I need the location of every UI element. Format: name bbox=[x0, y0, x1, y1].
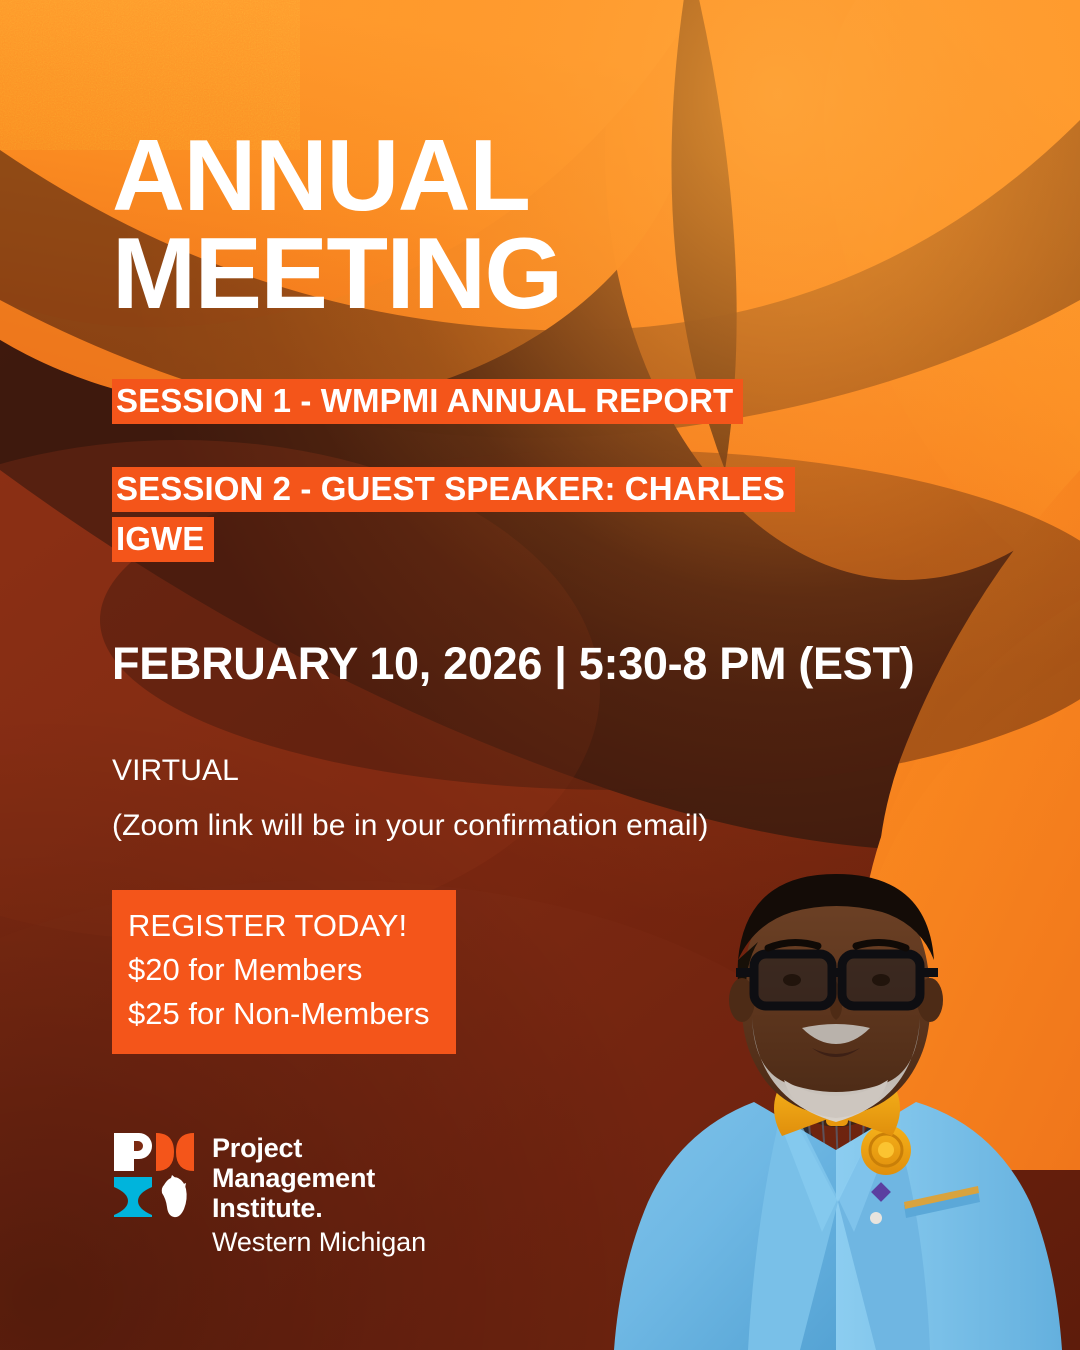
session-2: SESSION 2 - GUEST SPEAKER: CHARLES IGWE bbox=[112, 464, 872, 564]
registration-box[interactable]: REGISTER TODAY! $20 for Members $25 for … bbox=[112, 890, 456, 1054]
pmi-logo-text: Project Management Institute. Western Mi… bbox=[212, 1131, 426, 1258]
nonmember-price: $25 for Non-Members bbox=[128, 992, 430, 1036]
session-1: SESSION 1 - WMPMI ANNUAL REPORT bbox=[112, 376, 743, 426]
title-line-1: ANNUAL bbox=[112, 128, 832, 226]
logo-org-line-1: Project bbox=[212, 1133, 426, 1163]
register-heading: REGISTER TODAY! bbox=[128, 904, 430, 948]
venue-note: (Zoom link will be in your confirmation … bbox=[112, 809, 1080, 842]
session-list: SESSION 1 - WMPMI ANNUAL REPORT SESSION … bbox=[112, 376, 1080, 564]
venue-block: VIRTUAL (Zoom link will be in your confi… bbox=[112, 754, 1080, 842]
logo-org-line-3: Institute. bbox=[212, 1193, 426, 1223]
page-title: ANNUAL MEETING bbox=[112, 128, 832, 324]
logo-org-line-2: Management bbox=[212, 1163, 426, 1193]
pmi-logo-mark-icon bbox=[112, 1131, 196, 1219]
session-2-label: SESSION 2 - GUEST SPEAKER: CHARLES IGWE bbox=[112, 467, 795, 562]
event-poster: ANNUAL MEETING SESSION 1 - WMPMI ANNUAL … bbox=[0, 0, 1080, 1350]
member-price: $20 for Members bbox=[128, 948, 430, 992]
venue-mode: VIRTUAL bbox=[112, 754, 1080, 787]
title-line-2: MEETING bbox=[112, 226, 832, 324]
event-datetime: FEBRUARY 10, 2026 | 5:30-8 PM (EST) bbox=[112, 638, 1080, 690]
session-1-label: SESSION 1 - WMPMI ANNUAL REPORT bbox=[112, 379, 743, 424]
pmi-logo: Project Management Institute. Western Mi… bbox=[112, 1131, 426, 1258]
logo-chapter-name: Western Michigan bbox=[212, 1226, 426, 1258]
